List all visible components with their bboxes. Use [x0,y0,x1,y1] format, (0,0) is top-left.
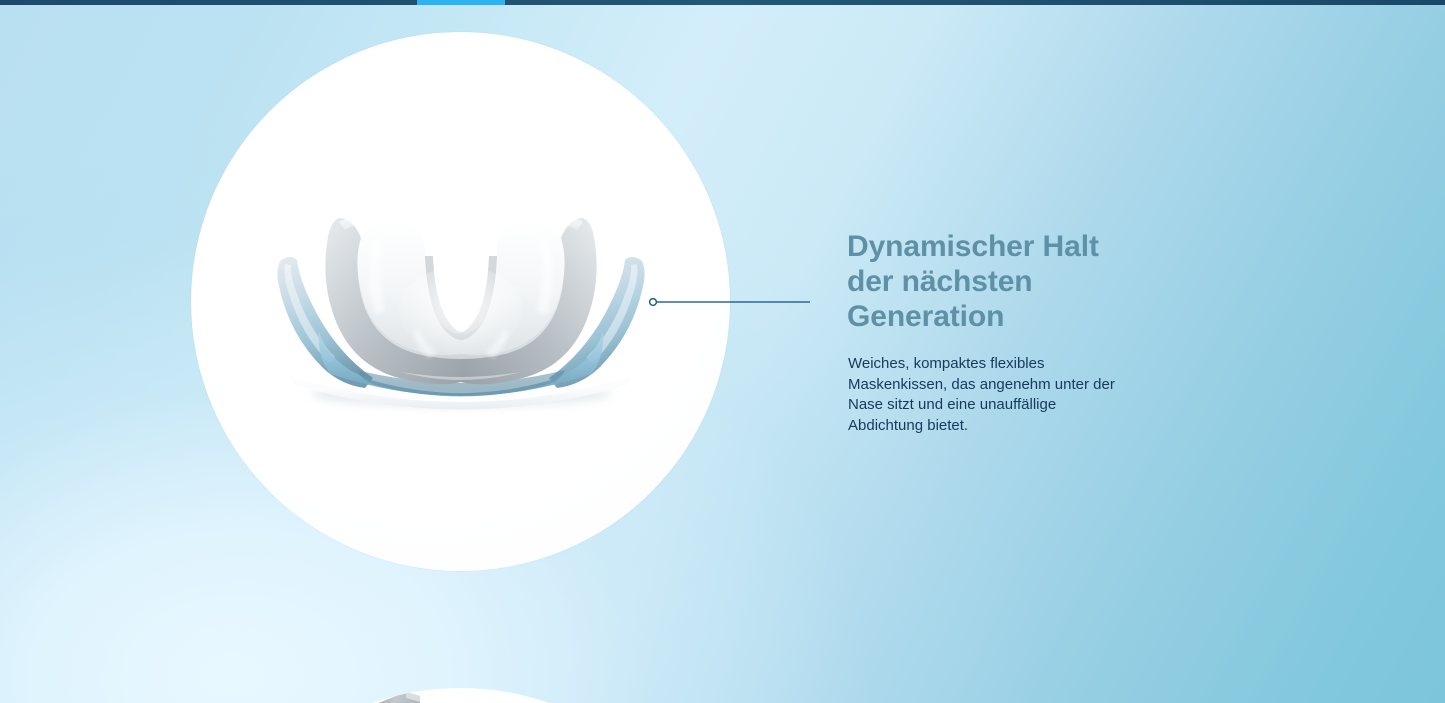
nasal-mask-cushion-image [261,182,661,422]
feature-text-panel: Dynamischer Halt der nächsten Generation… [847,229,1147,436]
feature-description: Weiches, kompaktes flexibles Maskenkisse… [848,354,1116,436]
callout-leader-line [648,294,818,310]
progress-bar-active-segment[interactable] [417,0,505,5]
leader-line-marker-dot [650,299,657,306]
next-product-circle[interactable] [191,688,730,703]
page-title: Dynamischer Halt der nächsten Generation [847,229,1147,334]
next-product-partial-image [376,688,440,703]
progress-bar[interactable] [0,0,1445,5]
product-showcase-stage: Dynamischer Halt der nächsten Generation… [0,0,1445,703]
progress-bar-track [0,0,1445,5]
